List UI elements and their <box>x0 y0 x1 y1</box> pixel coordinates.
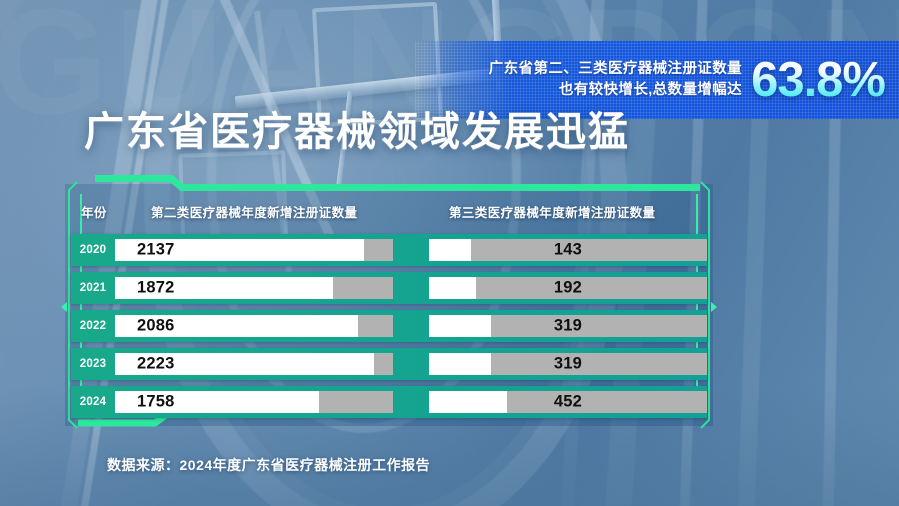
source-note: 数据来源：2024年度广东省医疗器械注册工作报告 <box>107 455 430 475</box>
banner-text: 广东省第二、三类医疗器械注册证数量 也有较快增长,总数量增幅达 <box>489 59 742 101</box>
bar-cell-class3: 319 <box>429 315 707 337</box>
row-year-badge: 2023 <box>71 348 115 380</box>
bar-value-class3: 319 <box>429 317 707 336</box>
table-row: 20222086319 <box>71 310 707 342</box>
column-header-class2: 第二类医疗器械年度新增注册证数量 <box>151 202 357 221</box>
card-content: 年份 第二类医疗器械年度新增注册证数量 第三类医疗器械年度新增注册证数量 202… <box>55 176 723 434</box>
bar-cell-class2: 2086 <box>115 315 393 337</box>
infographic-root: GUANGDONG 广东省第二、三类医疗器械注册证数量 也有较快增长,总数量增幅… <box>0 0 899 506</box>
table-row: 20211872192 <box>71 272 707 304</box>
column-gap <box>402 386 420 418</box>
bar-cell-class3: 143 <box>429 239 707 261</box>
column-gap <box>402 272 420 304</box>
growth-percent: 63.8% <box>751 56 885 105</box>
bar-cell-class3: 192 <box>429 277 707 299</box>
table-header-row: 年份 第二类医疗器械年度新增注册证数量 第三类医疗器械年度新增注册证数量 <box>55 200 723 224</box>
column-header-year: 年份 <box>81 202 107 221</box>
column-gap <box>402 310 420 342</box>
data-card: 年份 第二类医疗器械年度新增注册证数量 第三类医疗器械年度新增注册证数量 202… <box>55 176 723 434</box>
bar-cell-class2: 1758 <box>115 391 393 413</box>
bar-cell-class2: 2223 <box>115 353 393 375</box>
table-row: 20202137143 <box>71 234 707 266</box>
bar-value-class3: 452 <box>429 393 707 412</box>
bar-cell-class2: 1872 <box>115 277 393 299</box>
bar-value-class2: 2137 <box>137 241 175 260</box>
banner-line-1: 广东省第二、三类医疗器械注册证数量 <box>489 59 742 80</box>
page-title: 广东省医疗器械领域发展迅猛 <box>84 112 630 152</box>
bar-value-class2: 1758 <box>137 393 175 412</box>
bar-value-class2: 2223 <box>137 355 175 374</box>
row-year-badge: 2020 <box>71 234 115 266</box>
bar-cell-class3: 319 <box>429 353 707 375</box>
table-body: 2020213714320211872192202220863192023222… <box>71 234 707 418</box>
row-year-badge: 2021 <box>71 272 115 304</box>
highlight-banner: 广东省第二、三类医疗器械注册证数量 也有较快增长,总数量增幅达 63.8% <box>415 41 899 119</box>
bar-value-class2: 2086 <box>137 317 175 336</box>
table-row: 20241758452 <box>71 386 707 418</box>
bar-cell-class3: 452 <box>429 391 707 413</box>
bar-value-class3: 143 <box>429 241 707 260</box>
bar-cell-class2: 2137 <box>115 239 393 261</box>
column-gap <box>402 348 420 380</box>
banner-line-2: 也有较快增长,总数量增幅达 <box>489 80 742 101</box>
bar-value-class2: 1872 <box>137 279 175 298</box>
row-year-badge: 2022 <box>71 310 115 342</box>
column-header-class3: 第三类医疗器械年度新增注册证数量 <box>449 202 655 221</box>
table-row: 20232223319 <box>71 348 707 380</box>
row-year-badge: 2024 <box>71 386 115 418</box>
bar-value-class3: 192 <box>429 279 707 298</box>
column-gap <box>402 234 420 266</box>
bar-value-class3: 319 <box>429 355 707 374</box>
